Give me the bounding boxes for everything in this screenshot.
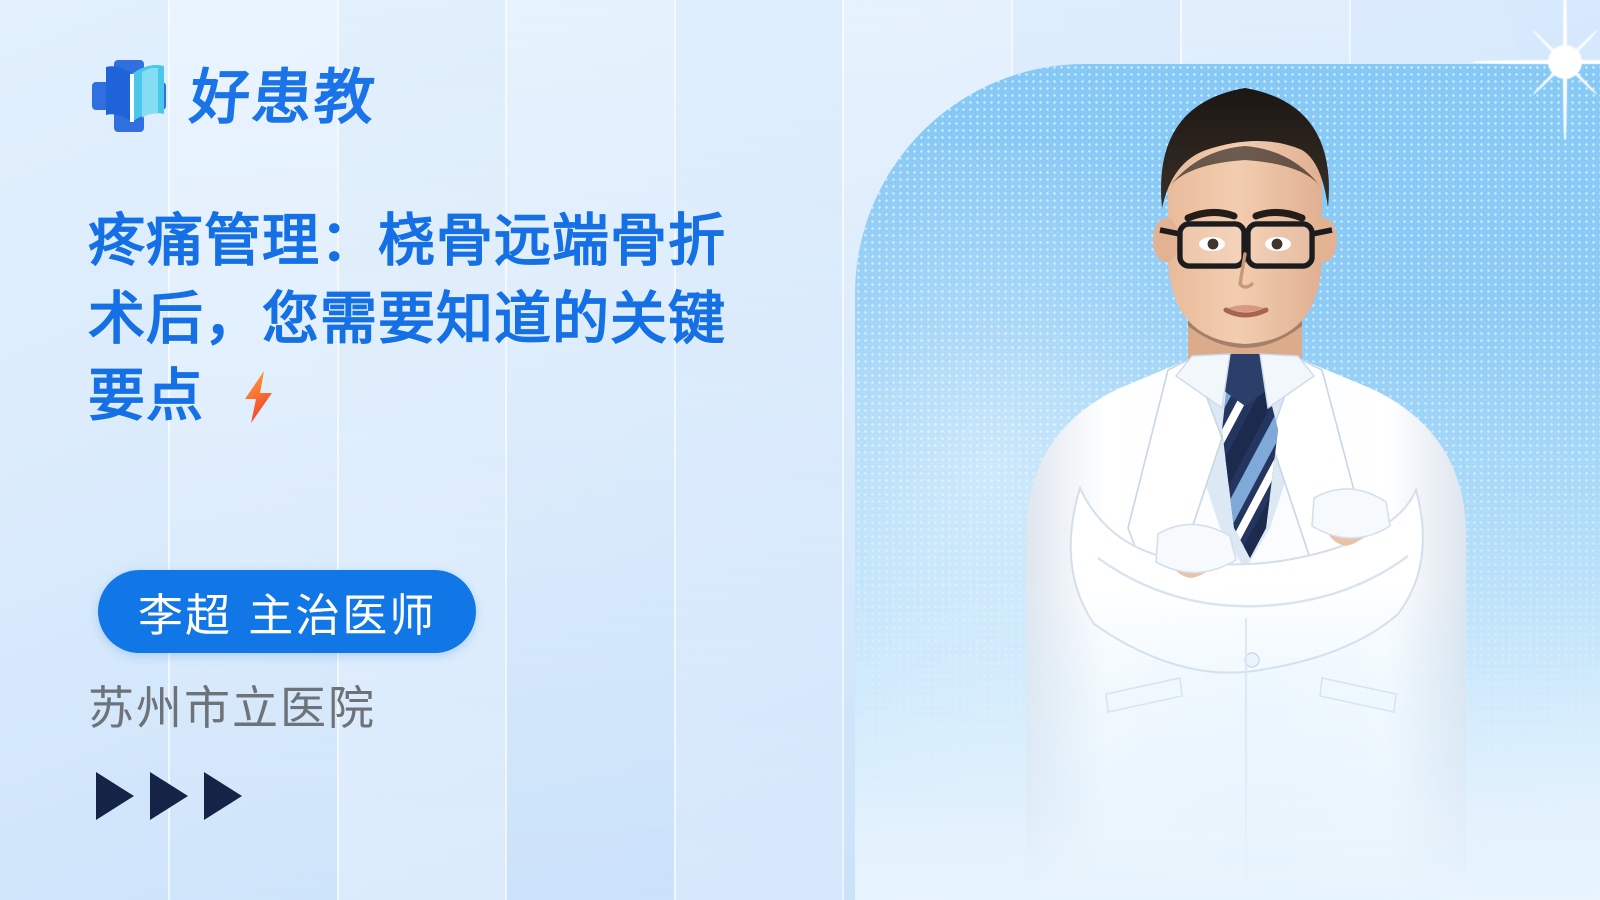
- slide-canvas: 好患教 疼痛管理：桡骨远端骨折 术后，您需要知道的关键 要点: [0, 0, 1600, 900]
- title-line-3: 要点: [88, 363, 204, 429]
- background-stripe: [674, 0, 842, 900]
- brand-name: 好患教: [187, 68, 378, 128]
- medical-cross-book-icon: [88, 52, 174, 144]
- title-line-2: 术后，您需要知道的关键: [88, 281, 858, 359]
- play-arrows: [96, 772, 242, 820]
- background-stripe: [505, 0, 674, 900]
- doctor-portrait: [930, 58, 1570, 900]
- play-triangle-icon: [204, 772, 242, 820]
- brand-logo[interactable]: 好患教: [88, 52, 376, 144]
- hospital-name: 苏州市立医院: [88, 672, 376, 738]
- title-line-3-wrap: 要点: [88, 358, 858, 436]
- play-triangle-icon: [96, 772, 134, 820]
- lightning-bolt-icon: [235, 368, 281, 424]
- doctor-badge-label: 李超 主治医师: [138, 579, 436, 644]
- title-line-1: 疼痛管理：桡骨远端骨折: [88, 203, 858, 281]
- doctor-name-badge[interactable]: 李超 主治医师: [98, 570, 476, 653]
- play-triangle-icon: [150, 772, 188, 820]
- page-title: 疼痛管理：桡骨远端骨折 术后，您需要知道的关键 要点: [88, 203, 858, 436]
